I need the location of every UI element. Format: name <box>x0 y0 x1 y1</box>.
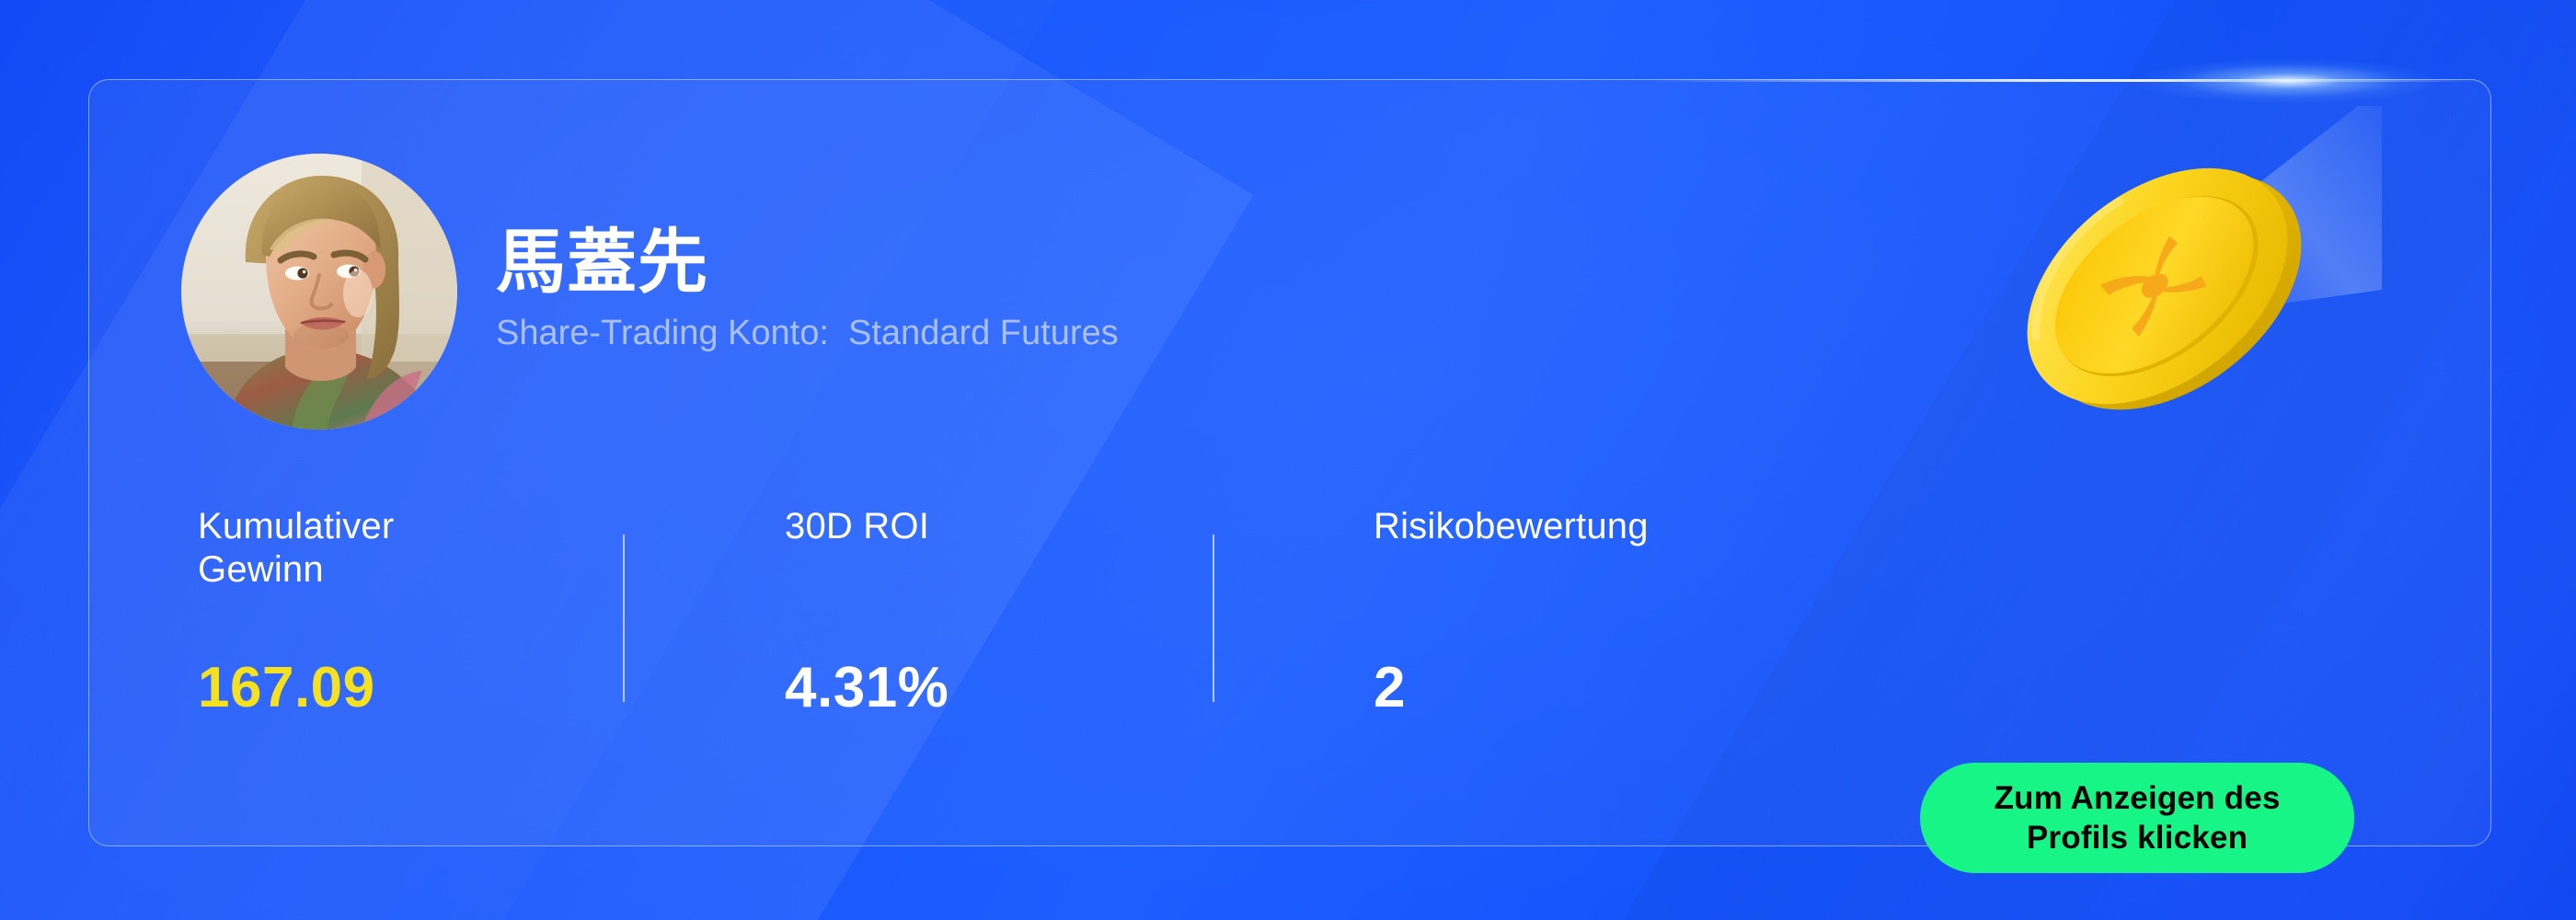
stat-label: 30D ROI <box>785 505 1208 548</box>
page-title: 馬蓋先 <box>496 225 1119 301</box>
gold-coin-icon <box>1986 106 2382 465</box>
stat-label: Kumulativer Gewinn <box>198 505 621 592</box>
stat-30d-roi: 30D ROI 4.31% <box>785 505 1208 548</box>
stat-cumulative-profit: Kumulativer Gewinn 167.09 <box>198 505 621 592</box>
profile-card: 馬蓋先 Share-Trading Konto: Standard Future… <box>88 79 2491 846</box>
profile-header: 馬蓋先 Share-Trading Konto: Standard Future… <box>181 154 1119 430</box>
view-profile-button[interactable]: Zum Anzeigen des Profils klicken <box>1920 763 2354 873</box>
stat-value: 167.09 <box>198 660 375 717</box>
card-edge-highlight-line <box>1653 79 2481 82</box>
stat-risk-rating: Risikobewertung 2 <box>1374 505 1889 548</box>
stat-label: Risikobewertung <box>1374 505 1889 548</box>
account-type-label: Share-Trading Konto: Standard Futures <box>496 314 1119 354</box>
profile-identity: 馬蓋先 Share-Trading Konto: Standard Future… <box>496 225 1119 358</box>
stat-value: 4.31% <box>785 660 949 717</box>
stat-divider <box>623 535 625 702</box>
card-edge-glow <box>2095 52 2481 109</box>
stat-divider <box>1213 535 1214 702</box>
stats-row: Kumulativer Gewinn 167.09 30D ROI 4.31% … <box>89 505 2490 847</box>
stat-value: 2 <box>1374 660 1406 717</box>
avatar[interactable] <box>181 154 457 430</box>
promo-banner: 馬蓋先 Share-Trading Konto: Standard Future… <box>0 0 2576 920</box>
